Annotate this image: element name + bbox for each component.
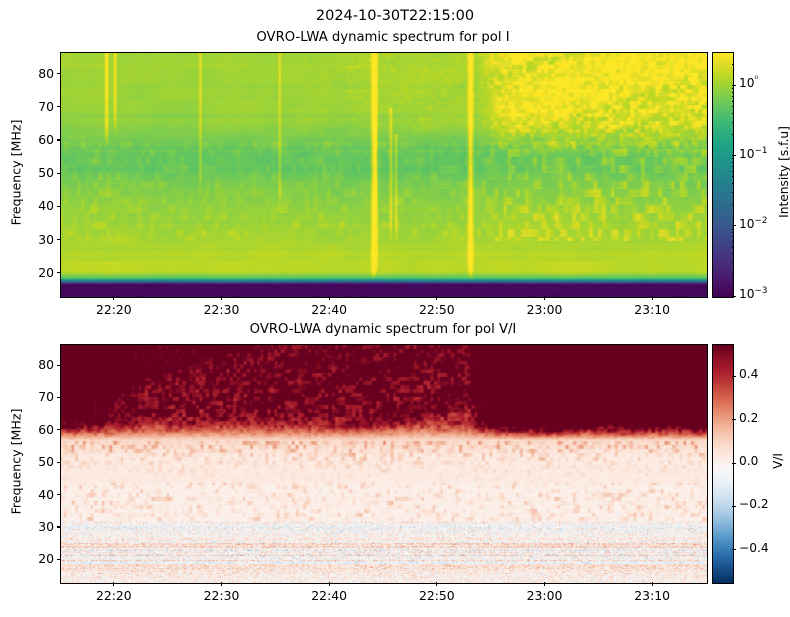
x-tick-p2-4 xyxy=(544,582,545,586)
x-tick-label-p1-3: 22:50 xyxy=(403,302,471,317)
y-tick-p2-5 xyxy=(57,397,61,398)
dynamic-spectrum-pol-vi xyxy=(60,344,708,584)
cb-tick-p2-1 xyxy=(732,506,736,507)
y-tick-p1-4 xyxy=(57,139,61,140)
y-tick-label-p1-2: 40 xyxy=(24,198,54,213)
x-tick-label-p1-2: 22:40 xyxy=(295,302,363,317)
x-tick-label-p2-5: 23:10 xyxy=(618,588,686,603)
cb-minor-tick-p1-0-3 xyxy=(732,52,734,53)
cb-tick-label-p1-0: 10−3 xyxy=(739,287,767,301)
cb-minor-tick-p1--2-5 xyxy=(732,176,734,177)
cb-minor-tick-p1--3-8 xyxy=(732,232,734,233)
cb-tick-label-p2-0: −0.4 xyxy=(739,541,769,555)
x-tick-label-p1-4: 23:00 xyxy=(511,302,579,317)
cb-minor-tick-p1--2-6 xyxy=(732,171,734,172)
cb-minor-tick-p1--1-6 xyxy=(732,101,734,102)
y-tick-label-p1-0: 20 xyxy=(24,265,54,280)
y-tick-label-p2-4: 60 xyxy=(24,422,54,437)
x-tick-p1-4 xyxy=(544,296,545,300)
colorbar-pol-vi xyxy=(712,344,734,584)
colorbar-pol-i xyxy=(712,52,734,298)
cb-minor-tick-p1-0-2 xyxy=(732,64,734,65)
figure-canvas: 2024-10-30T22:15:00 OVRO-LWA dynamic spe… xyxy=(0,0,790,617)
cb-minor-tick-p1--2-8 xyxy=(732,162,734,163)
y-tick-p2-4 xyxy=(57,429,61,430)
cb-minor-tick-p1--1-4 xyxy=(732,113,734,114)
x-tick-label-p2-0: 22:20 xyxy=(80,588,148,603)
cb-tick-p1-2 xyxy=(732,155,736,156)
y-tick-label-p1-1: 30 xyxy=(24,232,54,247)
x-tick-label-p2-2: 22:40 xyxy=(295,588,363,603)
cb-tick-label-p2-2: 0.0 xyxy=(739,454,758,468)
cb-tick-label-p1-1: 10−2 xyxy=(739,217,767,231)
y-tick-label-p1-6: 80 xyxy=(24,66,54,81)
cb-tick-label-p2-4: 0.4 xyxy=(739,367,758,381)
cb-tick-label-p2-1: −0.2 xyxy=(739,497,769,511)
cb-minor-tick-p1--3-3 xyxy=(732,262,734,263)
x-tick-p2-1 xyxy=(221,582,222,586)
cb-minor-tick-p1--3-2 xyxy=(732,274,734,275)
y-tick-label-p2-2: 40 xyxy=(24,487,54,502)
cb-tick-label-p2-3: 0.2 xyxy=(739,411,758,425)
cb-minor-tick-p1--1-7 xyxy=(732,96,734,97)
y-tick-label-p2-6: 80 xyxy=(24,357,54,372)
y-tick-label-p1-5: 70 xyxy=(24,99,54,114)
cb-minor-tick-p1--1-8 xyxy=(732,92,734,93)
cb-tick-p2-2 xyxy=(732,463,736,464)
dynamic-spectrum-pol-i xyxy=(60,52,708,298)
colorbar-label-pol-vi: V/I xyxy=(771,342,785,580)
cb-minor-tick-p1--1-9 xyxy=(732,88,734,89)
x-tick-p1-5 xyxy=(652,296,653,300)
y-tick-p2-6 xyxy=(57,365,61,366)
cb-minor-tick-p1--2-9 xyxy=(732,158,734,159)
y-tick-label-p1-3: 50 xyxy=(24,165,54,180)
cb-tick-p2-4 xyxy=(732,376,736,377)
y-axis-label-pol-vi: Frequency [MHz] xyxy=(9,343,24,581)
x-tick-label-p2-4: 23:00 xyxy=(511,588,579,603)
x-tick-label-p1-0: 22:20 xyxy=(80,302,148,317)
x-tick-p2-2 xyxy=(329,582,330,586)
panel-title-pol-i: OVRO-LWA dynamic spectrum for pol I xyxy=(60,30,706,45)
y-tick-p2-3 xyxy=(57,462,61,463)
cb-tick-p2-3 xyxy=(732,419,736,420)
cb-minor-tick-p1--2-4 xyxy=(732,183,734,184)
x-tick-p2-5 xyxy=(652,582,653,586)
y-tick-label-p1-4: 60 xyxy=(24,132,54,147)
y-tick-label-p2-0: 20 xyxy=(24,551,54,566)
x-tick-p1-0 xyxy=(113,296,114,300)
colorbar-label-pol-i: Intensity [s.f.u] xyxy=(777,50,790,294)
x-tick-p1-2 xyxy=(329,296,330,300)
y-tick-p1-2 xyxy=(57,206,61,207)
cb-tick-label-p1-2: 10−1 xyxy=(739,147,767,161)
y-tick-p1-1 xyxy=(57,239,61,240)
y-tick-label-p2-5: 70 xyxy=(24,389,54,404)
x-tick-label-p2-1: 22:30 xyxy=(188,588,256,603)
cb-minor-tick-p1--1-5 xyxy=(732,106,734,107)
x-tick-p1-3 xyxy=(436,296,437,300)
x-tick-p1-1 xyxy=(221,296,222,300)
cb-minor-tick-p1--1-3 xyxy=(732,122,734,123)
y-tick-p2-0 xyxy=(57,559,61,560)
y-tick-label-p2-1: 30 xyxy=(24,519,54,534)
y-tick-p1-6 xyxy=(57,73,61,74)
y-tick-p2-1 xyxy=(57,526,61,527)
cb-minor-tick-p1--2-2 xyxy=(732,204,734,205)
cb-minor-tick-p1--3-6 xyxy=(732,241,734,242)
y-tick-p1-0 xyxy=(57,272,61,273)
y-tick-p1-5 xyxy=(57,106,61,107)
y-axis-label-pol-i: Frequency [MHz] xyxy=(9,51,24,295)
cb-tick-p1-3 xyxy=(732,85,736,86)
cb-minor-tick-p1--2-7 xyxy=(732,166,734,167)
cb-tick-p1-1 xyxy=(732,225,736,226)
panel-title-pol-vi: OVRO-LWA dynamic spectrum for pol V/I xyxy=(60,322,706,337)
y-tick-p2-2 xyxy=(57,494,61,495)
x-tick-label-p2-3: 22:50 xyxy=(403,588,471,603)
cb-minor-tick-p1--2-3 xyxy=(732,192,734,193)
x-tick-label-p1-1: 22:30 xyxy=(188,302,256,317)
y-tick-p1-3 xyxy=(57,173,61,174)
cb-minor-tick-p1--3-5 xyxy=(732,246,734,247)
x-tick-p2-3 xyxy=(436,582,437,586)
x-tick-p2-0 xyxy=(113,582,114,586)
cb-minor-tick-p1--3-9 xyxy=(732,229,734,230)
cb-minor-tick-p1--3-7 xyxy=(732,236,734,237)
cb-tick-p2-0 xyxy=(732,549,736,550)
cb-minor-tick-p1--1-2 xyxy=(732,134,734,135)
cb-minor-tick-p1--3-4 xyxy=(732,253,734,254)
y-tick-label-p2-3: 50 xyxy=(24,454,54,469)
cb-tick-label-p1-3: 10⁰ xyxy=(739,76,758,90)
figure-suptitle: 2024-10-30T22:15:00 xyxy=(0,8,790,24)
x-tick-label-p1-5: 23:10 xyxy=(618,302,686,317)
cb-tick-p1-0 xyxy=(732,296,736,297)
